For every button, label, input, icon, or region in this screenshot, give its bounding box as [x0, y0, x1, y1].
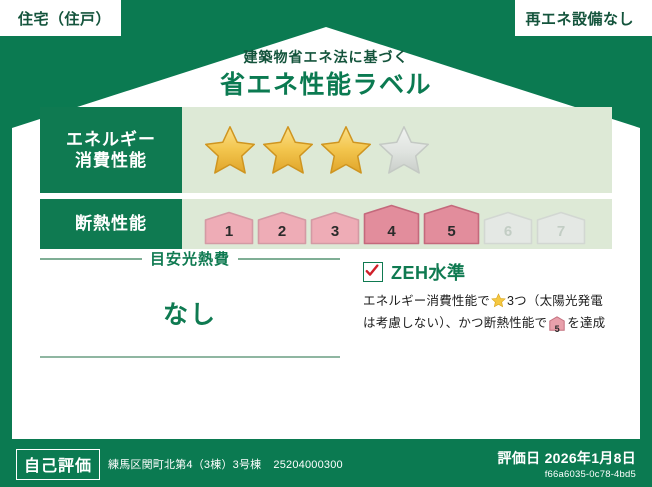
house-level-inactive: 7 — [536, 211, 586, 245]
inline-house-badge: 5 — [549, 316, 565, 337]
energy-performance-value — [182, 107, 612, 193]
label-footer: 自己評価 練馬区関町北第4（3棟）3号棟25204000300 評価日 2026… — [0, 441, 652, 487]
insulation-label-text: 断熱性能 — [75, 213, 147, 234]
energy-label-line1: エネルギー — [66, 129, 156, 150]
utility-cost-heading-text: 目安光熱費 — [150, 248, 230, 269]
insulation-performance-label: 断熱性能 — [40, 199, 182, 249]
utility-cost-bottom-rule — [40, 356, 340, 358]
energy-performance-row: エネルギー 消費性能 — [40, 107, 612, 193]
property-code: 25204000300 — [273, 459, 343, 471]
zeh-desc-part1: エネルギー消費性能で — [363, 294, 490, 308]
house-level-inactive: 6 — [483, 211, 533, 245]
zeh-description: エネルギー消費性能で3つ（太陽光発電 は考慮しない）、かつ断熱性能で5を達成 — [363, 292, 614, 338]
zeh-desc-part3: を達成 — [567, 316, 605, 330]
house-level-active: 2 — [257, 211, 307, 245]
house-level-active: 5 — [423, 204, 480, 245]
star-empty-icon — [378, 124, 430, 176]
utility-cost-section: 目安光熱費 なし — [40, 248, 340, 331]
heading-rule-right — [238, 258, 340, 260]
energy-label-line2: 消費性能 — [75, 150, 147, 171]
evaluation-date-value: 2026年1月8日 — [545, 450, 636, 466]
property-address: 練馬区関町北第4（3棟）3号棟25204000300 — [108, 456, 343, 472]
evaluation-id: f66a6035-0c78-4bd5 — [497, 469, 636, 480]
insulation-performance-value: 1234567 — [182, 199, 612, 249]
zeh-checkbox[interactable] — [363, 262, 383, 282]
evaluation-date: 評価日 2026年1月8日 — [497, 448, 636, 468]
top-left-white-strip — [0, 0, 8, 36]
house-level-active: 4 — [363, 204, 420, 245]
house-rating-scale: 1234567 — [204, 204, 586, 245]
energy-performance-label: 住宅（住戸） 再エネ設備なし 建築物省エネ法に基づく 省エネ性能ラベル エネルギ… — [0, 0, 652, 487]
zeh-section: ZEH水準 エネルギー消費性能で3つ（太陽光発電 は考慮しない）、かつ断熱性能で… — [363, 259, 614, 338]
utility-cost-heading: 目安光熱費 — [40, 248, 340, 269]
badge-renewable-energy: 再エネ設備なし — [515, 0, 644, 36]
top-right-white-strip — [644, 0, 652, 36]
check-icon — [365, 264, 379, 278]
zeh-desc-part2: は考慮しない）、かつ断熱性能で — [363, 316, 547, 330]
inline-star-icon — [491, 293, 506, 314]
heading-rule-left — [40, 258, 142, 260]
utility-cost-value: なし — [40, 295, 340, 331]
inline-house-level: 5 — [549, 323, 565, 337]
label-title: 省エネ性能ラベル — [18, 65, 634, 101]
zeh-heading: ZEH水準 — [363, 259, 614, 285]
star-filled-icon — [204, 124, 256, 176]
insulation-performance-row: 断熱性能 1234567 — [40, 199, 612, 249]
star-filled-icon — [262, 124, 314, 176]
self-evaluation-badge: 自己評価 — [16, 449, 100, 480]
star-filled-icon — [320, 124, 372, 176]
rating-rows: エネルギー 消費性能 断熱性能 1234567 — [40, 107, 612, 255]
address-text: 練馬区関町北第4（3棟）3号棟 — [108, 459, 261, 471]
house-level-active: 3 — [310, 211, 360, 245]
energy-performance-label: エネルギー 消費性能 — [40, 107, 182, 193]
star-rating — [204, 124, 430, 176]
label-content: 建築物省エネ法に基づく 省エネ性能ラベル エネルギー 消費性能 断熱性能 12 — [18, 33, 634, 435]
evaluation-date-label: 評価日 — [497, 450, 540, 466]
zeh-desc-star-count: 3つ（太陽光発電 — [507, 294, 603, 308]
house-level-active: 1 — [204, 211, 254, 245]
badge-building-type: 住宅（住戸） — [8, 0, 121, 36]
label-subtitle: 建築物省エネ法に基づく — [18, 47, 634, 67]
evaluation-meta: 評価日 2026年1月8日 f66a6035-0c78-4bd5 — [497, 448, 636, 480]
zeh-title: ZEH水準 — [391, 259, 466, 285]
